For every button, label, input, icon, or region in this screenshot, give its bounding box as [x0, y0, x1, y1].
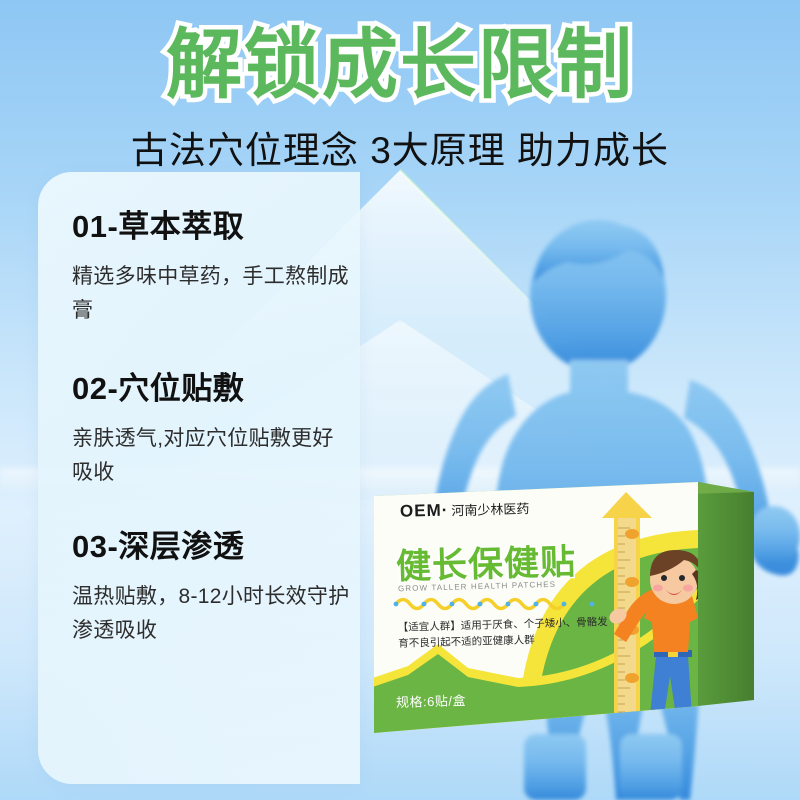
feature-title: 01-草本萃取 — [72, 210, 350, 244]
box-suitable-crowd: 【适宜人群】适用于厌食、个子矮小、骨骼发育不良引起不适的亚健康人群 — [398, 615, 609, 652]
feature-panel: 01-草本萃取 精选多味中草药，手工熬制成膏 02-穴位贴敷 亲肤透气,对应穴位… — [38, 172, 360, 784]
feature-body: 精选多味中草药，手工熬制成膏 — [72, 260, 350, 328]
page-title: 解锁成长限制 — [0, 28, 800, 104]
feature-item-02: 02-穴位贴敷 亲肤透气,对应穴位贴敷更好吸收 — [72, 372, 350, 490]
product-package: OEM·河南少林医药 健长保健贴 GROW TALLER HEALTH PATC… — [368, 478, 760, 740]
feature-item-03: 03-深层渗透 温热贴敷，8-12小时长效守护渗透吸收 — [72, 530, 350, 648]
feature-body: 亲肤透气,对应穴位贴敷更好吸收 — [72, 422, 350, 490]
box-oem-label: OEM·河南少林医药 — [400, 498, 530, 522]
page-subtitle: 古法穴位理念 3大原理 助力成长 — [0, 128, 800, 174]
feature-title: 03-深层渗透 — [72, 530, 350, 564]
oem-text: OEM· — [400, 500, 449, 520]
feature-title: 02-穴位贴敷 — [72, 372, 350, 406]
feature-item-01: 01-草本萃取 精选多味中草药，手工熬制成膏 — [72, 210, 350, 328]
feature-body: 温热贴敷，8-12小时长效守护渗透吸收 — [72, 580, 350, 648]
box-side-face — [698, 482, 754, 706]
manufacturer-text: 河南少林医药 — [451, 501, 529, 518]
headline-block: 解锁成长限制 — [0, 28, 800, 104]
box-specification: 规格:6贴/盒 — [396, 690, 466, 711]
